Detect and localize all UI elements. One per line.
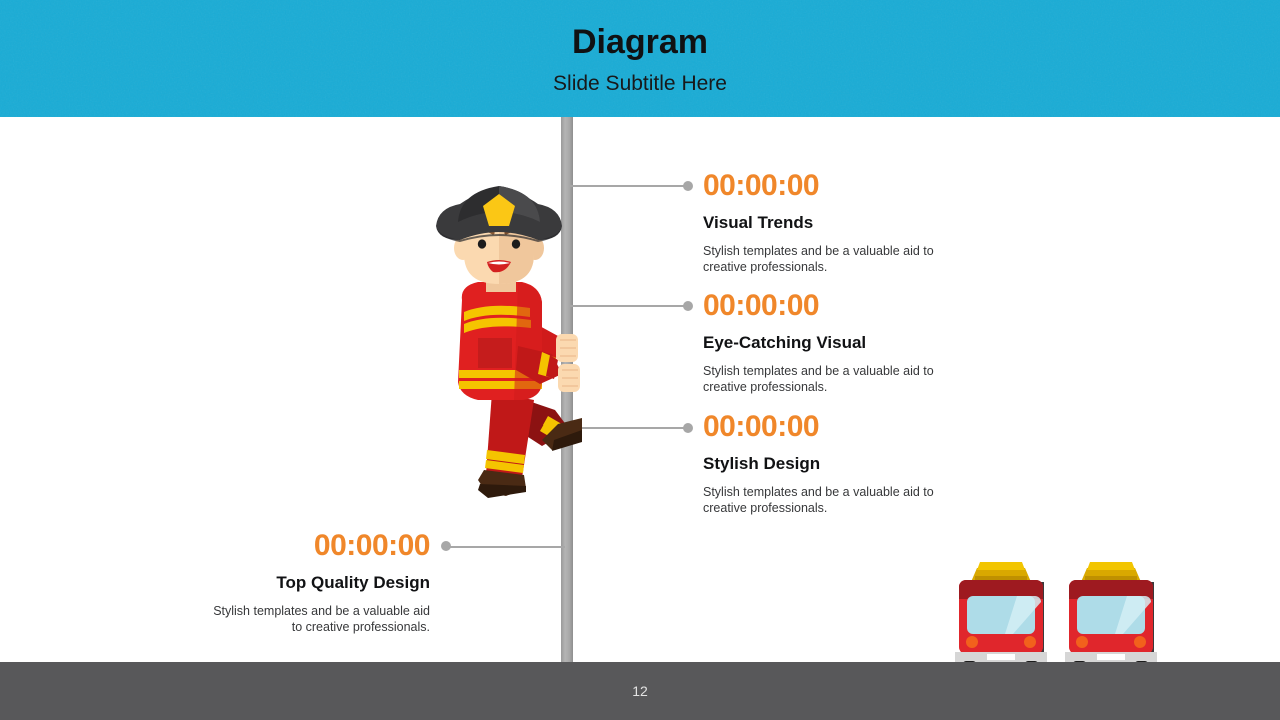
connector-dot-2	[683, 301, 693, 311]
item-title: Eye-Catching Visual	[703, 331, 973, 355]
firefighter-legs	[478, 392, 582, 498]
fire-truck-2	[1065, 562, 1157, 674]
fire-truck-1	[955, 562, 1047, 674]
firefighter-hands	[556, 334, 580, 392]
item-title: Top Quality Design	[180, 571, 430, 595]
fire-trucks-illustration	[955, 558, 1165, 674]
item-time: 00:00:00	[703, 169, 973, 203]
timeline-item-2[interactable]: 00:00:00 Eye-Catching Visual Stylish tem…	[703, 289, 973, 395]
item-description: Stylish templates and be a valuable aid …	[703, 484, 939, 516]
slide-header: Diagram Slide Subtitle Here	[0, 0, 1280, 117]
item-title: Stylish Design	[703, 452, 973, 476]
item-title: Visual Trends	[703, 211, 973, 235]
item-time: 00:00:00	[180, 529, 430, 563]
connector-dot-4	[441, 541, 451, 551]
firefighter-jacket	[458, 282, 542, 400]
item-description: Stylish templates and be a valuable aid …	[210, 603, 430, 635]
timeline-item-1[interactable]: 00:00:00 Visual Trends Stylish templates…	[703, 169, 973, 275]
page-number: 12	[600, 683, 680, 699]
item-time: 00:00:00	[703, 289, 973, 323]
firefighter-illustration	[430, 178, 600, 498]
item-time: 00:00:00	[703, 410, 973, 444]
item-description: Stylish templates and be a valuable aid …	[703, 243, 939, 275]
connector-line-4	[450, 546, 565, 548]
item-description: Stylish templates and be a valuable aid …	[703, 363, 939, 395]
timeline-item-3[interactable]: 00:00:00 Stylish Design Stylish template…	[703, 410, 973, 516]
slide: Diagram Slide Subtitle Here 00:00:00 Vis…	[0, 0, 1280, 720]
page-subtitle: Slide Subtitle Here	[0, 70, 1280, 98]
timeline-item-4[interactable]: 00:00:00 Top Quality Design Stylish temp…	[180, 529, 430, 635]
page-title: Diagram	[0, 22, 1280, 62]
connector-dot-3	[683, 423, 693, 433]
connector-dot-1	[683, 181, 693, 191]
